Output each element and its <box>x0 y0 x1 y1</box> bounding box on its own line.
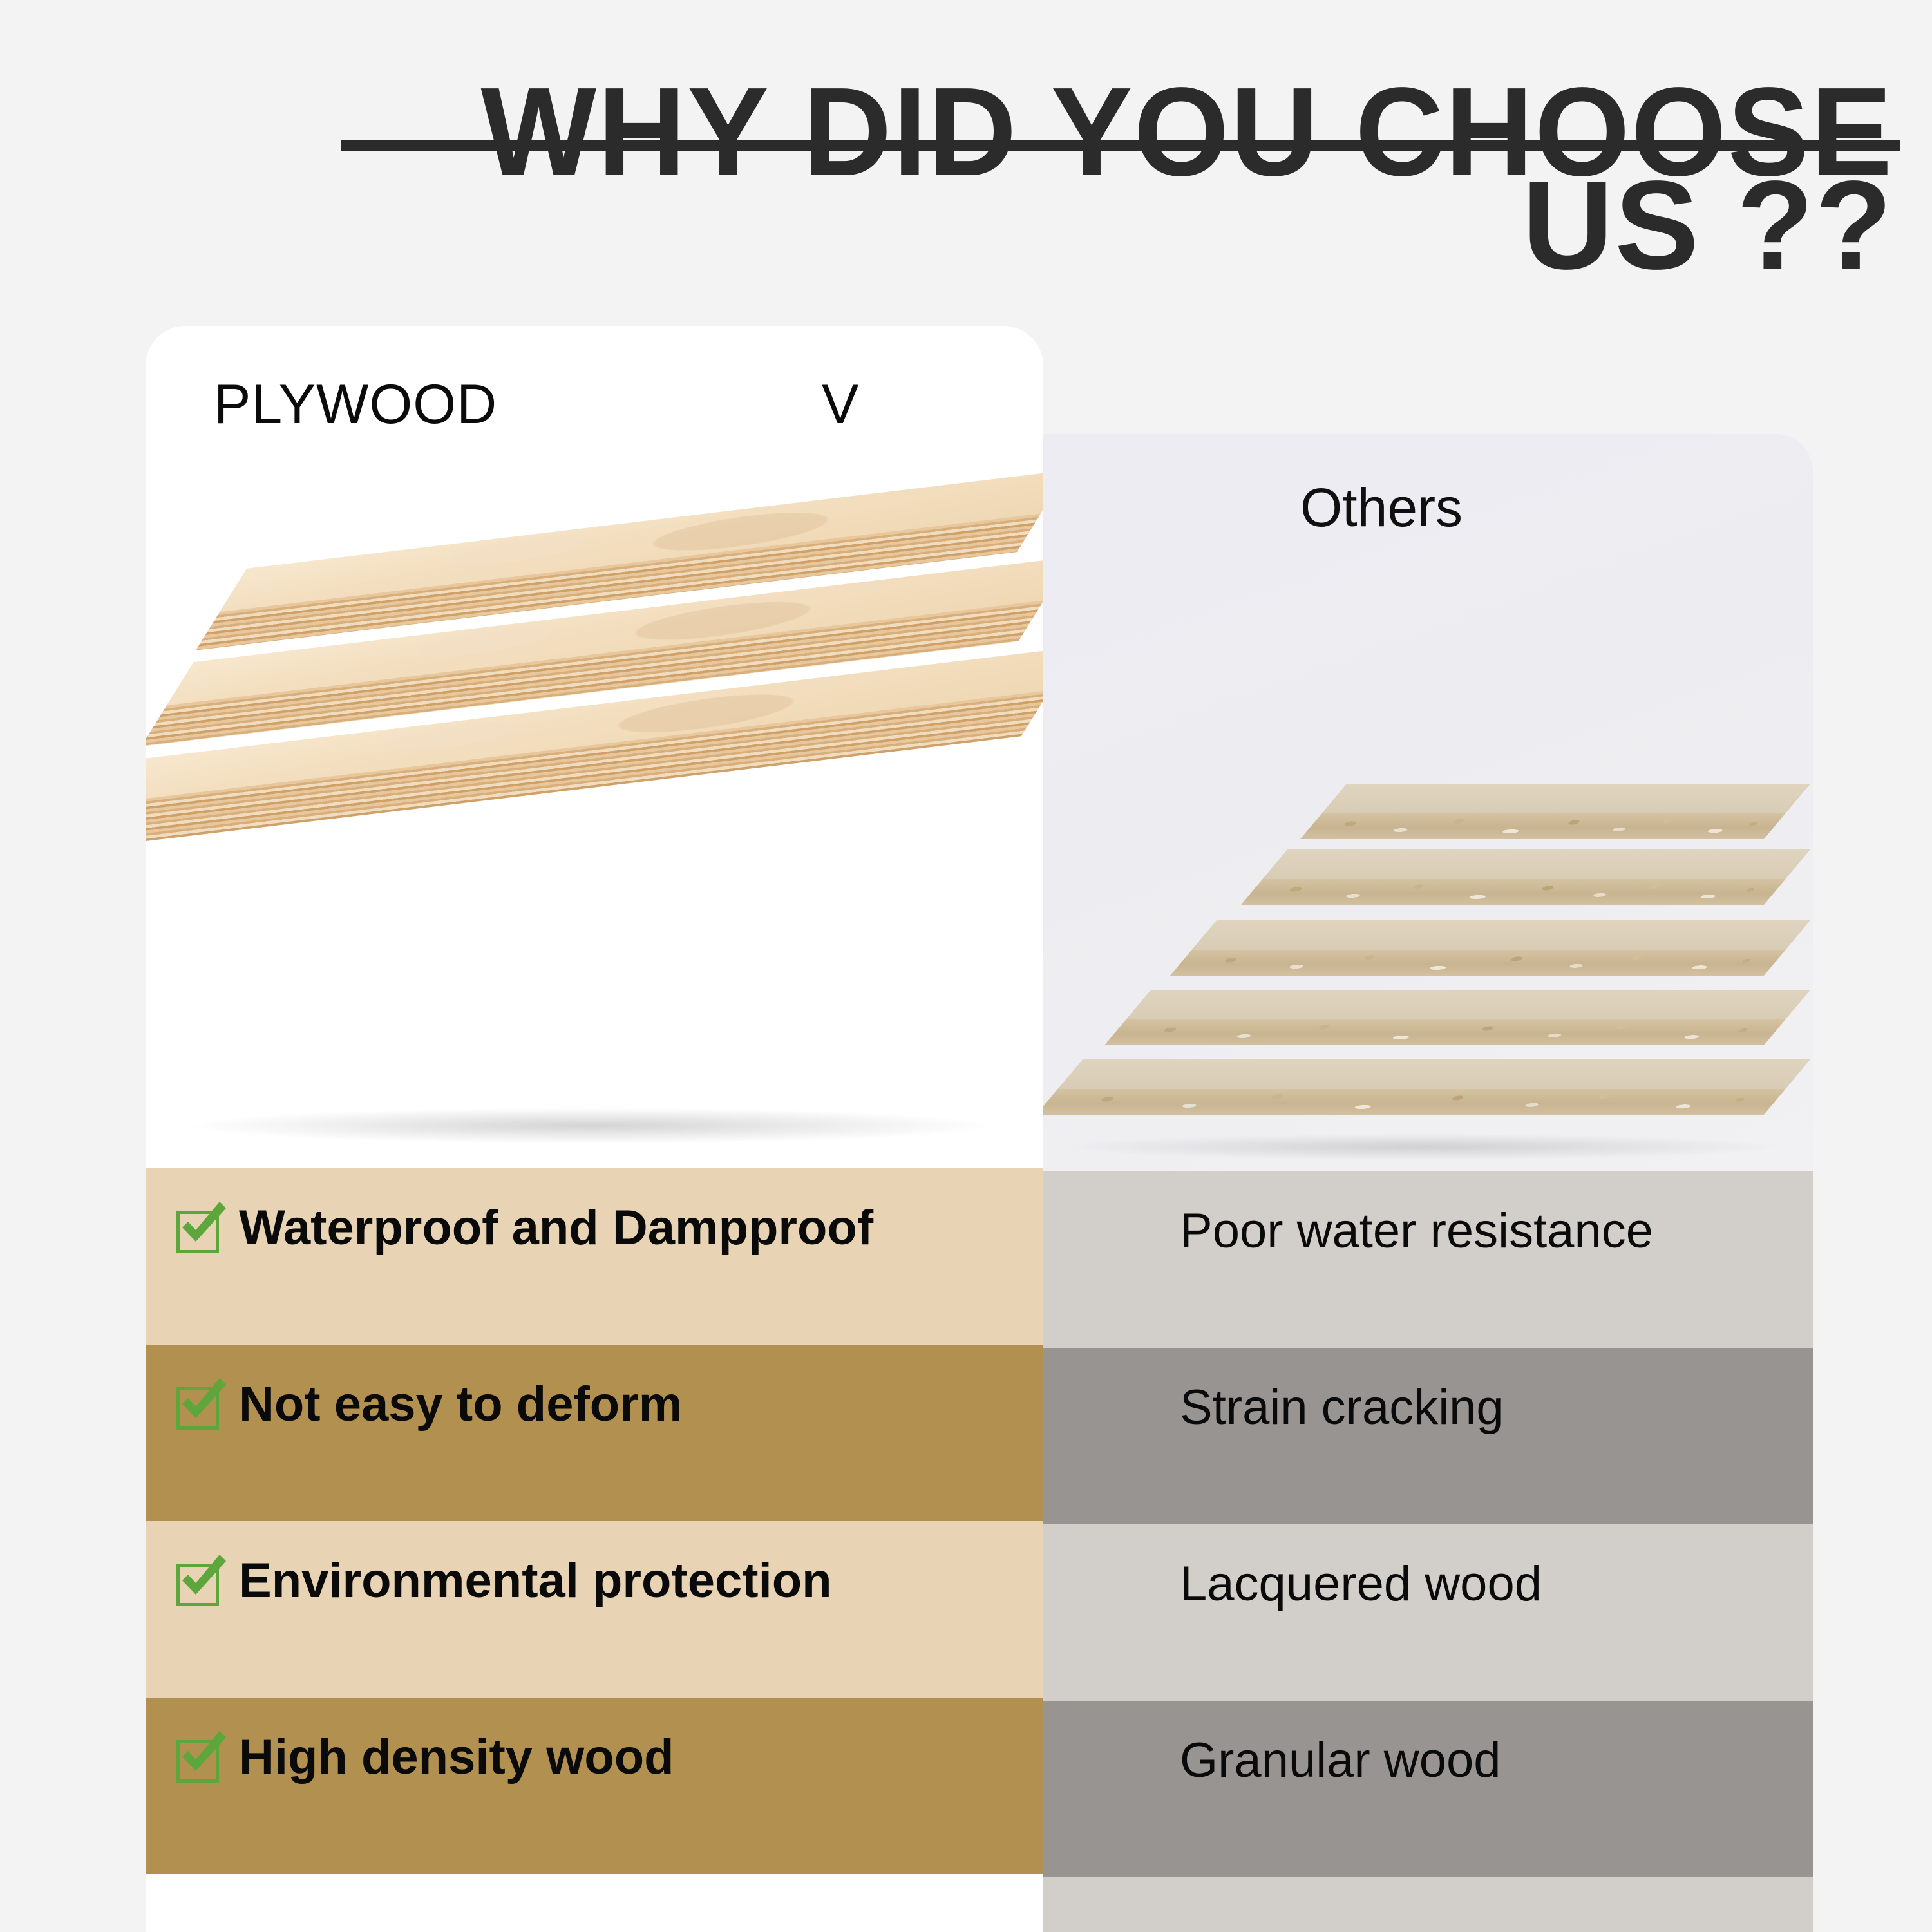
feature-label: Poor water resistance <box>1180 1204 1653 1258</box>
check-box-icon <box>173 1378 226 1431</box>
check-box-icon <box>173 1555 226 1607</box>
table-row: Lacquered wood <box>1043 1524 1813 1701</box>
feature-label: Waterproof and Dampproof <box>239 1202 873 1254</box>
plywood-panel-corner-mark: V <box>822 375 858 433</box>
check-box-icon <box>173 1202 226 1255</box>
feature-label: Lacquered wood <box>1180 1557 1542 1611</box>
plywood-panel-title: PLYWOOD <box>214 375 497 433</box>
table-row-tail <box>146 1874 1043 1932</box>
infographic-page: WHY DID YOU CHOOSE US ?? Others PLYW <box>0 0 1932 1932</box>
feature-label: Strain cracking <box>1180 1380 1504 1435</box>
table-row: Granular wood <box>1043 1701 1813 1877</box>
table-row: Poor water resistance <box>1043 1171 1813 1348</box>
others-feature-rows: Poor water resistance Strain cracking La… <box>1043 1171 1813 1932</box>
title-underline-rule <box>341 140 1900 151</box>
plywood-stack-image <box>146 480 1043 1092</box>
table-row: Strain cracking <box>1043 1348 1813 1524</box>
feature-label: High density wood <box>239 1732 674 1783</box>
check-box-icon <box>173 1731 226 1784</box>
table-row-tail <box>1043 1877 1813 1932</box>
feature-label: Environmental protection <box>239 1555 832 1607</box>
particleboard-stack-image <box>1043 637 1813 1171</box>
table-row: Not easy to deform <box>146 1345 1043 1521</box>
plywood-panel: PLYWOOD V <box>146 326 1043 1170</box>
feature-label: Granular wood <box>1180 1733 1501 1788</box>
table-row: Waterproof and Dampproof <box>146 1168 1043 1345</box>
page-title-line-2: US ?? <box>0 164 1903 287</box>
plywood-drop-shadow <box>184 1108 996 1144</box>
others-panel-title: Others <box>1043 479 1719 536</box>
plywood-feature-rows: Waterproof and Dampproof Not easy to def… <box>146 1168 1043 1932</box>
table-row: Environmental protection <box>146 1521 1043 1698</box>
others-panel: Others <box>1043 434 1813 1171</box>
feature-label: Not easy to deform <box>239 1379 682 1430</box>
table-row: High density wood <box>146 1698 1043 1874</box>
